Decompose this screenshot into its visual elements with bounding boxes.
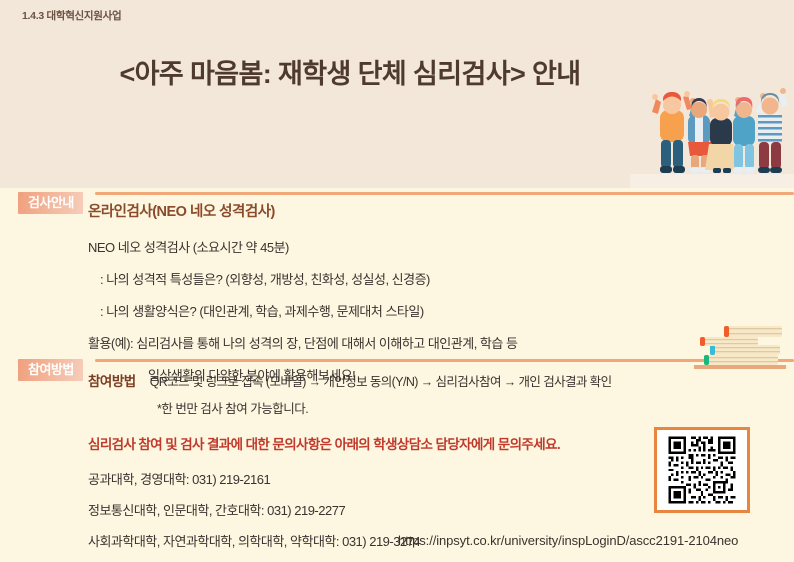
badge-survey-info: 검사안내 bbox=[18, 192, 83, 214]
survey-heading: 온라인검사(NEO 네오 성격검사) bbox=[88, 200, 517, 221]
qr-code[interactable] bbox=[654, 427, 750, 513]
celebrating-students-illustration bbox=[630, 82, 794, 188]
survey-line-usage-1: 활용(예): 심리검사를 통해 나의 성격의 장, 단점에 대해서 이해하고 대… bbox=[88, 333, 517, 352]
qr-code-image bbox=[661, 434, 743, 506]
section-divider-top bbox=[95, 192, 794, 195]
contact-row: 정보통신대학, 인문대학, 간호대학: 031) 219-2277 bbox=[88, 500, 611, 519]
survey-line-duration: NEO 네오 성격검사 (소요시간 약 45분) bbox=[88, 237, 517, 256]
page-title: <아주 마음봄: 재학생 단체 심리검사> 안내 bbox=[0, 52, 700, 91]
how-to-join-row: 참여방법 QR코드 및 링크로 접속 (모바일) → 개인정보 동의(Y/N) … bbox=[88, 370, 611, 390]
contact-row: 공과대학, 경영대학: 031) 219-2161 bbox=[88, 469, 611, 488]
how-to-join-note: *한 번만 검사 참여 가능합니다. bbox=[88, 398, 611, 417]
how-to-join-steps: QR코드 및 링크로 접속 (모바일) → 개인정보 동의(Y/N) → 심리검… bbox=[150, 371, 612, 390]
survey-line-traits: : 나의 성격적 특성들은? (외향성, 개방성, 친화성, 성실성, 신경증) bbox=[88, 269, 517, 288]
survey-info-section: 온라인검사(NEO 네오 성격검사) NEO 네오 성격검사 (소요시간 약 4… bbox=[88, 200, 517, 397]
how-to-join-label: 참여방법 bbox=[88, 370, 136, 390]
program-kicker: 1.4.3 대학혁신지원사업 bbox=[22, 8, 121, 23]
badge-how-to-join: 참여방법 bbox=[18, 359, 83, 381]
stacked-books-illustration bbox=[694, 322, 786, 372]
survey-url[interactable]: https://inpsyt.co.kr/university/inspLogi… bbox=[398, 533, 738, 548]
header-band: 1.4.3 대학혁신지원사업 <아주 마음봄: 재학생 단체 심리검사> 안내 bbox=[0, 0, 794, 188]
inquiry-notice: 심리검사 참여 및 검사 결과에 대한 문의사항은 아래의 학생상담소 담당자에… bbox=[88, 433, 611, 453]
survey-line-lifestyle: : 나의 생활양식은? (대인관계, 학습, 과제수행, 문제대처 스타일) bbox=[88, 301, 517, 320]
